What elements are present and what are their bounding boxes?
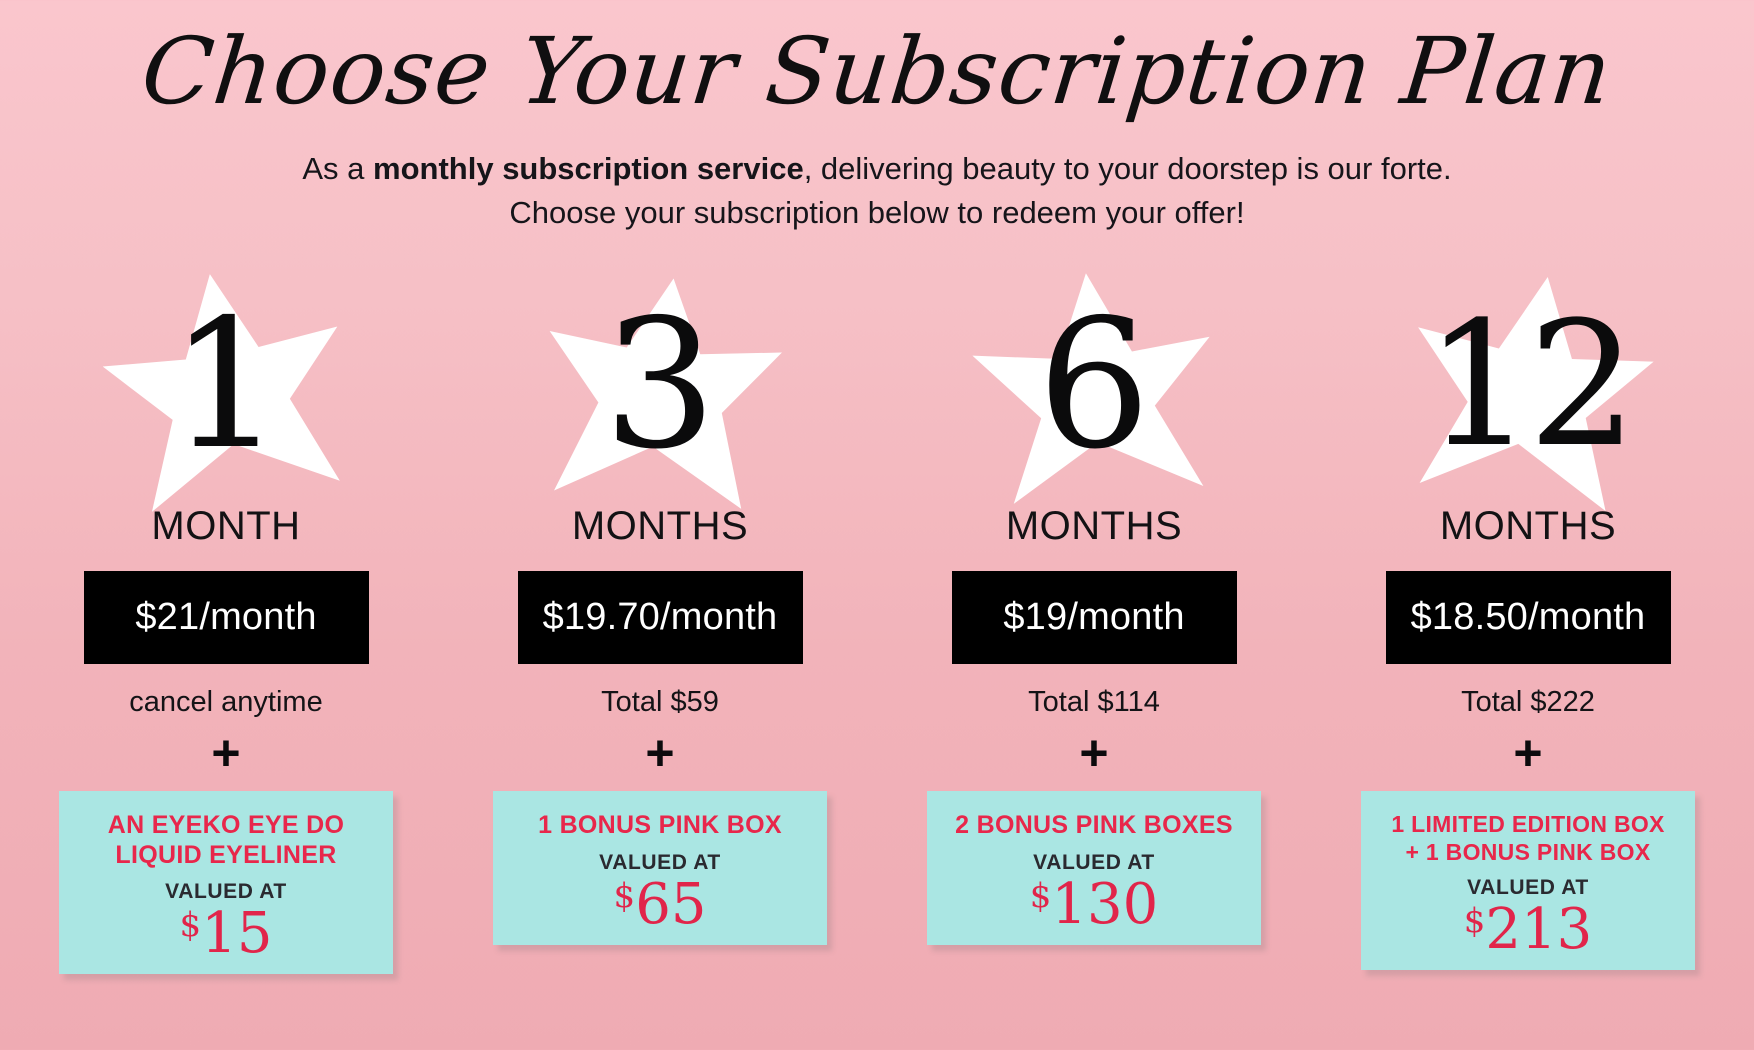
plan-duration-number: 6 [1037, 296, 1150, 474]
plan-note: cancel anytime [129, 686, 322, 719]
page-header: Choose Your Subscription Plan As a month… [0, 0, 1754, 235]
plan-bonus-box: 1 BONUS PINK BOX VALUED AT $65 [493, 791, 827, 945]
plan-price-plate[interactable]: $19.70/month [518, 571, 803, 664]
value-number: 65 [635, 872, 706, 937]
value-number: 213 [1485, 897, 1592, 962]
plan-price-plate[interactable]: $21/month [84, 571, 369, 664]
subtitle-pre: As a [302, 151, 373, 186]
page-title: Choose Your Subscription Plan [0, 22, 1754, 121]
bonus-title: 1 BONUS PINK BOX [538, 811, 782, 841]
bonus-valued-amount: $130 [1030, 877, 1159, 933]
plan-price-text: $19/month [1003, 596, 1184, 639]
plan-price-plate[interactable]: $19/month [952, 571, 1237, 664]
subtitle-emphasis: monthly subscription service [373, 151, 804, 186]
plan-badge: 3 [460, 273, 860, 488]
plan-note: Total $59 [601, 686, 719, 719]
plan-badge: 6 [894, 273, 1294, 488]
plan-badge: 1 [26, 273, 426, 488]
subscription-plan-page: Choose Your Subscription Plan As a month… [0, 0, 1754, 1050]
plan-bonus-box: 1 LIMITED EDITION BOX + 1 BONUS PINK BOX… [1361, 791, 1695, 969]
plan-card-6-months[interactable]: 6 MONTHS $19/month Total $114 + 2 BONUS … [894, 273, 1294, 945]
bonus-title: 2 BONUS PINK BOXES [955, 811, 1233, 841]
bonus-valued-amount: $65 [614, 877, 707, 933]
page-subtitle: As a monthly subscription service, deliv… [297, 147, 1457, 235]
plan-period-label: MONTHS [1440, 504, 1616, 549]
plan-period-label: MONTH [151, 504, 300, 549]
plan-period-label: MONTHS [572, 504, 748, 549]
plan-grid: 1 MONTH $21/month cancel anytime + AN EY… [0, 235, 1754, 974]
bonus-valued-amount: $15 [180, 906, 273, 962]
plan-price-plate[interactable]: $18.50/month [1386, 571, 1671, 664]
currency-symbol: $ [180, 905, 202, 945]
currency-symbol: $ [1030, 876, 1052, 916]
bonus-valued-amount: $213 [1464, 902, 1593, 958]
plus-icon: + [645, 733, 674, 773]
value-number: 130 [1051, 872, 1158, 937]
bonus-title: AN EYEKO EYE DO LIQUID EYELINER [108, 811, 345, 870]
plan-badge: 12 [1328, 273, 1728, 488]
currency-symbol: $ [614, 876, 636, 916]
plan-period-label: MONTHS [1006, 504, 1182, 549]
plan-price-text: $21/month [135, 596, 316, 639]
plan-card-3-months[interactable]: 3 MONTHS $19.70/month Total $59 + 1 BONU… [460, 273, 860, 945]
plan-bonus-box: AN EYEKO EYE DO LIQUID EYELINER VALUED A… [59, 791, 393, 974]
plan-price-text: $18.50/month [1411, 596, 1646, 639]
value-number: 15 [201, 901, 272, 966]
plan-duration-number: 1 [169, 296, 282, 474]
plan-duration-number: 12 [1425, 299, 1632, 471]
plan-card-12-months[interactable]: 12 MONTHS $18.50/month Total $222 + 1 LI… [1328, 273, 1728, 969]
bonus-title: 1 LIMITED EDITION BOX + 1 BONUS PINK BOX [1391, 811, 1664, 865]
plus-icon: + [1079, 733, 1108, 773]
plan-duration-number: 3 [603, 296, 716, 474]
plan-note: Total $114 [1028, 686, 1160, 719]
plus-icon: + [211, 733, 240, 773]
plan-card-1-month[interactable]: 1 MONTH $21/month cancel anytime + AN EY… [26, 273, 426, 974]
currency-symbol: $ [1464, 901, 1486, 941]
plan-note: Total $222 [1461, 686, 1595, 719]
plan-price-text: $19.70/month [543, 596, 778, 639]
plan-bonus-box: 2 BONUS PINK BOXES VALUED AT $130 [927, 791, 1261, 945]
plus-icon: + [1513, 733, 1542, 773]
